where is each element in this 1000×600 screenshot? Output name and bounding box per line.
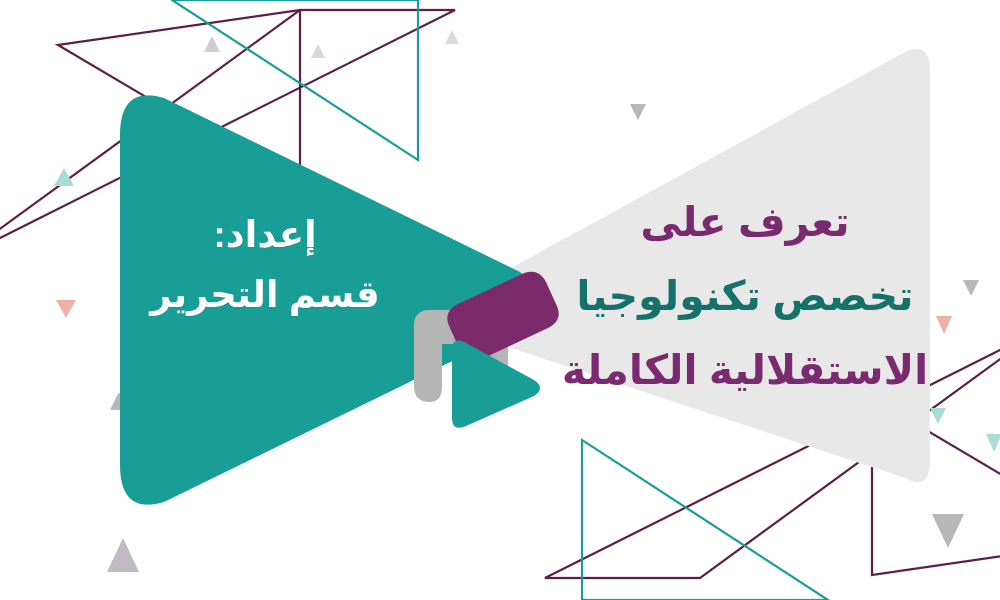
banner-canvas: إعداد: قسم التحرير تعرف على تخصص تكنولوج…	[0, 0, 1000, 600]
headline-text-block: تعرف على تخصص تكنولوجيا الاستقلالية الكا…	[545, 186, 945, 407]
headline-line-1: تعرف على	[545, 186, 945, 260]
headline-line-2: تخصص تكنولوجيا	[545, 260, 945, 334]
headline-line-3: الاستقلالية الكاملة	[545, 334, 945, 408]
credit-text-block: إعداد: قسم التحرير	[130, 205, 400, 325]
credit-line-author: قسم التحرير	[130, 265, 400, 325]
credit-line-label: إعداد:	[130, 205, 400, 265]
